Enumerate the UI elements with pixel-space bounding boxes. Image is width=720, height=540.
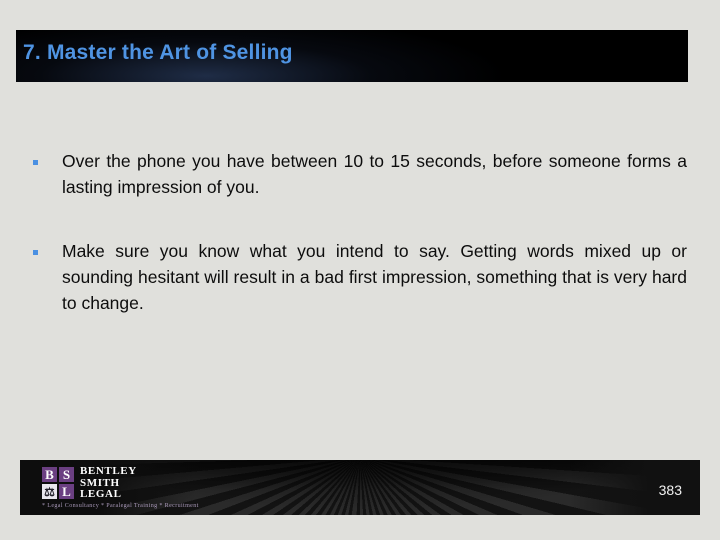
- logo-wordmark: BENTLEY SMITH LEGAL: [80, 466, 137, 501]
- square-bullet-icon: [33, 160, 38, 165]
- scales-of-justice-icon: ⚖: [42, 484, 57, 499]
- logo-letter-b: B: [42, 467, 57, 482]
- bentley-smith-legal-logo: B S ⚖ L BENTLEY SMITH LEGAL: [42, 467, 137, 501]
- list-item: Over the phone you have between 10 to 15…: [27, 148, 687, 200]
- slide-canvas: 7. Master the Art of Selling Over the ph…: [0, 0, 720, 540]
- slide-footer: B S ⚖ L BENTLEY SMITH LEGAL * Legal Cons…: [20, 460, 700, 515]
- square-bullet-icon: [33, 250, 38, 255]
- list-item-text: Make sure you know what you intend to sa…: [62, 238, 687, 316]
- logo-word-bentley: BENTLEY: [80, 466, 137, 478]
- logo-letter-s: S: [59, 467, 74, 482]
- page-number: 383: [659, 482, 682, 498]
- title-banner: 7. Master the Art of Selling: [16, 30, 688, 82]
- logo-word-legal: LEGAL: [80, 489, 137, 501]
- content-body: Over the phone you have between 10 to 15…: [27, 148, 687, 316]
- page-title: 7. Master the Art of Selling: [23, 41, 293, 65]
- list-item-text: Over the phone you have between 10 to 15…: [62, 148, 687, 200]
- logo-mark: B S ⚖ L: [42, 467, 74, 499]
- list-item: Make sure you know what you intend to sa…: [27, 238, 687, 316]
- logo-tagline: * Legal Consultancy * Paralegal Training…: [42, 501, 199, 508]
- logo-letter-l: L: [59, 484, 74, 499]
